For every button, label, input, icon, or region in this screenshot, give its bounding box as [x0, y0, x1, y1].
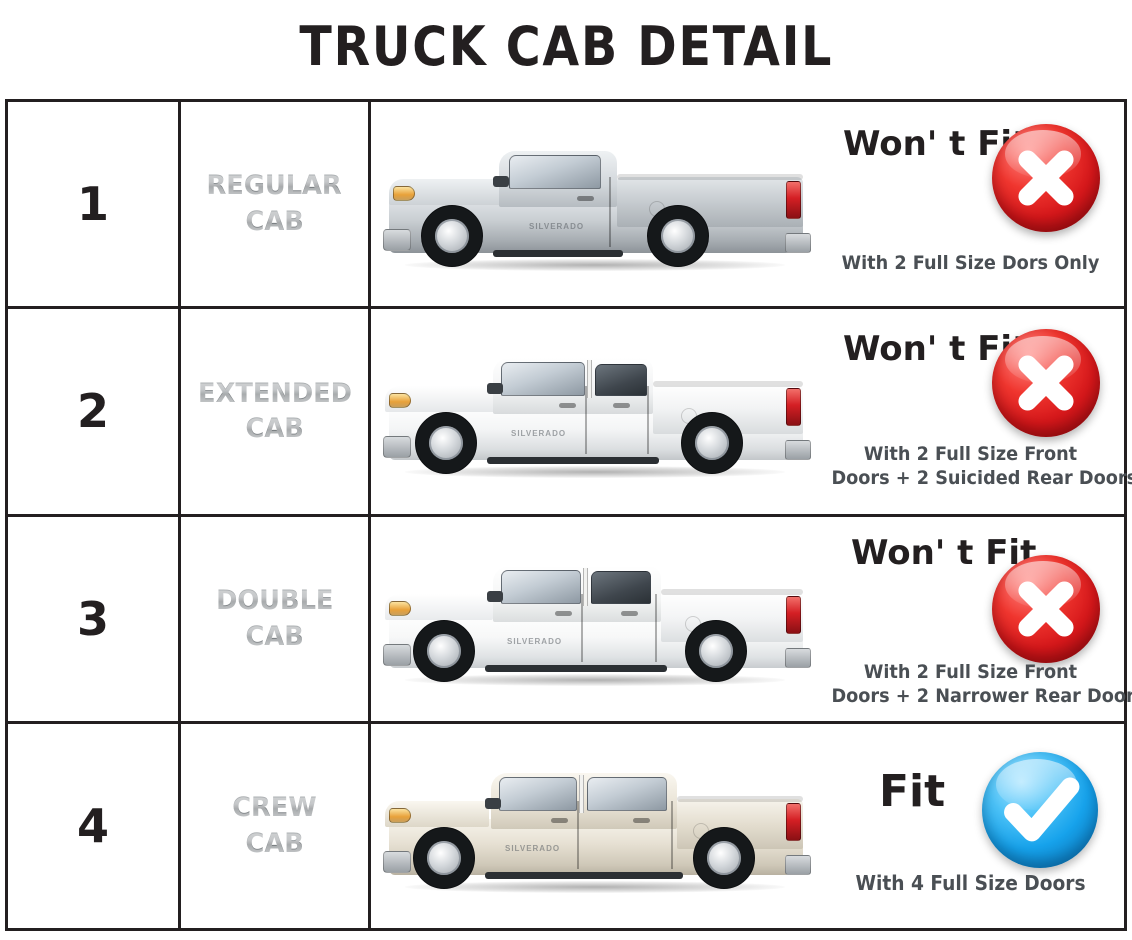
- running-board: [485, 665, 667, 672]
- cab-name-line-2: CAB: [245, 205, 303, 239]
- front-door-window: [501, 570, 581, 604]
- row-number-cell: 2: [8, 309, 181, 513]
- rear-bumper: [785, 648, 811, 668]
- rear-door-window: [591, 571, 651, 604]
- taillight: [786, 596, 801, 634]
- cab-name-cell: CREW CAB: [181, 724, 371, 928]
- verdict-note-line-2: Doors + 2 Suicided Rear Doors: [831, 467, 1109, 489]
- front-bumper: [383, 644, 411, 666]
- verdict-block: Fit With 4 Full Size Doors: [821, 724, 1124, 928]
- row-content-cell: SILVERADO Won' t Fit: [371, 517, 1124, 721]
- door-seam-front: [577, 801, 579, 869]
- front-bumper: [383, 229, 411, 251]
- rear-wheel: [681, 412, 743, 474]
- x-mark-icon: [992, 329, 1100, 437]
- row-content-cell: SILVERADO Won' t Fit: [371, 102, 1124, 306]
- side-mirror: [487, 591, 503, 602]
- row-number: 4: [77, 799, 109, 853]
- cab-name-line-1: EXTENDED: [198, 377, 352, 411]
- door-seam-front: [585, 386, 587, 454]
- running-board: [485, 872, 683, 879]
- cab-name-line-1: REGULAR: [207, 169, 342, 203]
- side-mirror: [487, 383, 503, 394]
- front-wheel: [421, 205, 483, 267]
- rear-suicide-door-window: [595, 364, 647, 396]
- truck-image-regular-cab: SILVERADO: [371, 102, 821, 306]
- front-door-window: [509, 155, 601, 189]
- row-number: 2: [77, 384, 109, 438]
- truck-bed: [617, 177, 803, 227]
- bed-rail: [617, 174, 803, 180]
- door-seam-rear: [647, 386, 649, 454]
- cab-name-line-2: CAB: [245, 412, 303, 446]
- rear-wheel: [693, 827, 755, 889]
- headlight: [389, 601, 411, 616]
- truck-model-badge: SILVERADO: [505, 844, 560, 853]
- verdict-block: Won' t Fit W: [821, 517, 1124, 721]
- running-board: [487, 457, 659, 464]
- cab-name-line-2: CAB: [245, 620, 303, 654]
- truck-image-double-cab: SILVERADO: [371, 517, 821, 721]
- headlight: [393, 186, 415, 201]
- cab-name-line-1: DOUBLE: [216, 584, 333, 618]
- status-badge-x: [992, 329, 1100, 437]
- rear-bumper: [785, 440, 811, 460]
- rear-door-window: [587, 777, 667, 811]
- verdict-label: Fit: [879, 766, 945, 817]
- door-seam: [609, 177, 611, 247]
- door-handle-rear: [613, 403, 630, 408]
- row-number-cell: 4: [8, 724, 181, 928]
- truck-image-crew-cab: SILVERADO: [371, 724, 821, 928]
- side-mirror: [493, 176, 509, 187]
- cab-name-cell: REGULAR CAB: [181, 102, 371, 306]
- taillight: [786, 803, 801, 841]
- cab-name-line-2: CAB: [245, 827, 303, 861]
- truck-model-badge: SILVERADO: [529, 222, 584, 231]
- table-row: 1 REGULAR CAB: [8, 102, 1124, 309]
- page-title: TRUCK CAB DETAIL: [0, 0, 1132, 92]
- truck-image-extended-cab: SILVERADO: [371, 309, 821, 513]
- door-seam-front: [581, 594, 583, 662]
- rear-bumper: [785, 233, 811, 253]
- front-door-window: [501, 362, 585, 396]
- rear-wheel: [647, 205, 709, 267]
- table-row: 2 EXTENDED CAB: [8, 309, 1124, 516]
- cab-name-line-1: CREW: [232, 791, 316, 825]
- front-wheel: [415, 412, 477, 474]
- verdict-note-line-1: With 2 Full Size Front: [831, 443, 1109, 465]
- x-mark-icon: [992, 124, 1100, 232]
- check-mark-icon: [982, 752, 1098, 868]
- row-number-cell: 3: [8, 517, 181, 721]
- door-handle: [577, 196, 594, 201]
- verdict-block: Won' t Fit W: [821, 102, 1124, 306]
- row-number: 3: [77, 592, 109, 646]
- front-wheel: [413, 827, 475, 889]
- bed-rail: [653, 381, 803, 387]
- row-number-cell: 1: [8, 102, 181, 306]
- running-board: [493, 250, 623, 257]
- cab-name-cell: DOUBLE CAB: [181, 517, 371, 721]
- b-pillar: [583, 568, 588, 606]
- table-row: 3 DOUBLE CAB: [8, 517, 1124, 724]
- table-row: 4 CREW CAB: [8, 724, 1124, 928]
- headlight: [389, 393, 411, 408]
- status-badge-x: [992, 555, 1100, 663]
- rear-bumper: [785, 855, 811, 875]
- side-mirror: [485, 798, 501, 809]
- verdict-block: Won' t Fit W: [821, 309, 1124, 513]
- verdict-note-line-2: Doors + 2 Narrower Rear Doors: [831, 685, 1109, 707]
- bed-rail: [661, 589, 803, 595]
- truck-cab-detail-page: TRUCK CAB DETAIL 1 REGULAR CAB: [0, 0, 1132, 940]
- headlight: [389, 808, 411, 823]
- door-handle-rear: [621, 611, 638, 616]
- bed-rail: [677, 796, 803, 802]
- b-pillar: [579, 775, 584, 813]
- truck-model-badge: SILVERADO: [507, 637, 562, 646]
- truck-model-badge: SILVERADO: [511, 429, 566, 438]
- verdict-note: With 4 Full Size Doors: [831, 872, 1109, 896]
- x-mark-icon: [992, 555, 1100, 663]
- row-content-cell: SILVERADO Won' t Fit: [371, 309, 1124, 513]
- cab-comparison-table: 1 REGULAR CAB: [5, 99, 1127, 931]
- front-bumper: [383, 436, 411, 458]
- page-title-text: TRUCK CAB DETAIL: [299, 15, 833, 78]
- rear-wheel: [685, 620, 747, 682]
- door-handle-front: [555, 611, 572, 616]
- door-seam-rear: [655, 594, 657, 662]
- front-wheel: [413, 620, 475, 682]
- door-handle-rear: [633, 818, 650, 823]
- door-handle-front: [559, 403, 576, 408]
- cab-name-cell: EXTENDED CAB: [181, 309, 371, 513]
- front-bumper: [383, 851, 411, 873]
- row-number: 1: [77, 177, 109, 231]
- taillight: [786, 181, 801, 219]
- front-door-window: [499, 777, 577, 811]
- verdict-note-line-1: With 2 Full Size Front: [831, 661, 1109, 683]
- b-pillar: [587, 360, 592, 398]
- status-badge-check: [982, 752, 1098, 868]
- verdict-note: With 2 Full Size Dors Only: [831, 252, 1109, 274]
- door-handle-front: [551, 818, 568, 823]
- door-seam-rear: [671, 801, 673, 869]
- status-badge-x: [992, 124, 1100, 232]
- taillight: [786, 388, 801, 426]
- row-content-cell: SILVERADO Fit: [371, 724, 1124, 928]
